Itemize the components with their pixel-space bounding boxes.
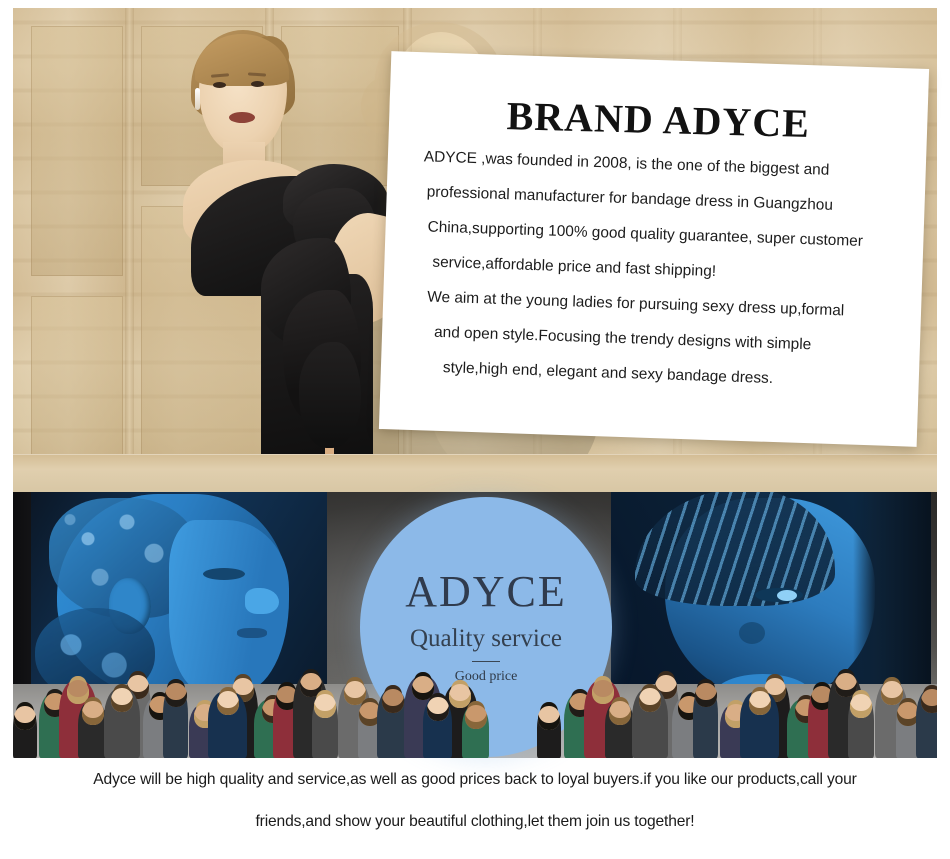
badge-divider [472,661,500,662]
right-projection-eye-highlight [777,590,797,601]
window-panel [31,296,123,471]
brand-card-line: professional manufacturer for bandage dr… [426,184,898,217]
audience-member-head [412,676,434,700]
audience-member-head [639,688,661,712]
audience-member [312,694,338,758]
audience-member [848,694,874,758]
audience-member [537,706,561,758]
model-eye [213,82,226,88]
caption-line-1: Adyce will be high quality and service,a… [0,772,950,788]
audience-member [916,689,937,758]
audience-member [104,688,140,758]
audience-member-head [449,684,471,708]
brand-description-card: BRAND ADYCE ADYCE ,was founded in 2008, … [379,51,929,447]
model-eye [251,81,264,87]
audience-member-head [314,694,336,718]
audience-member-head [111,688,133,712]
audience-member [740,691,779,758]
audience-member [423,697,452,758]
audience-member [208,691,247,758]
badge-brand-name: ADYCE [405,570,567,614]
audience-member-head [835,673,857,697]
left-projection-eye [203,568,245,580]
model-earring [195,88,200,110]
audience-member [605,701,634,758]
audience-member-head [850,694,872,718]
badge-subtitle: Quality service [410,626,562,651]
audience-member-head [67,680,89,704]
audience-member-head [344,681,366,705]
audience-member-head [592,680,614,704]
audience-member-head [538,706,560,730]
left-projection-nose [245,588,279,614]
brand-card-line: China,supporting 100% good quality guara… [427,219,897,252]
model-dress-ruffle [299,342,361,448]
caption-line-2: friends,and show your beautiful clothing… [0,814,950,830]
adyce-brand-banner: BRAND ADYCE ADYCE ,was founded in 2008, … [0,0,950,859]
window-mullion [125,8,134,492]
audience-member-head [881,681,903,705]
audience-member-head [427,697,449,721]
audience-member-head [609,701,631,725]
brand-card-line: We aim at the young ladies for pursuing … [427,289,895,321]
audience-member [13,706,37,758]
audience-member-head [14,706,36,730]
audience-member-head [695,683,717,707]
brand-card-line: and open style.Focusing the trendy desig… [434,324,894,356]
right-projection-nose [739,622,765,644]
audience-member-head [300,673,322,697]
brand-card-title: BRAND ADYCE [415,90,902,150]
audience-member-head [921,689,938,713]
audience-member-head [82,701,104,725]
audience-member [693,683,718,758]
model-lips [229,112,255,123]
audience-member [462,705,489,758]
audience-member-head [165,683,187,707]
audience-member-head [749,691,771,715]
brand-card-line: ADYCE ,was founded in 2008, is the one o… [424,149,900,182]
audience-member [78,701,107,758]
badge-note: Good price [455,670,518,684]
window-panel [31,26,123,276]
brand-card-line: service,affordable price and fast shippi… [432,254,896,286]
audience-member-head [465,705,487,729]
brand-card-line: style,high end, elegant and sexy bandage… [443,360,893,392]
audience-member-head [217,691,239,715]
audience-member [632,688,668,758]
footer-caption: Adyce will be high quality and service,a… [0,772,950,829]
audience-member-head [382,689,404,713]
brand-card-body: ADYCE ,was founded in 2008, is the one o… [407,149,900,392]
hero-floor-strip [13,454,937,492]
audience-member [163,683,188,758]
left-projection-lips [237,628,267,638]
